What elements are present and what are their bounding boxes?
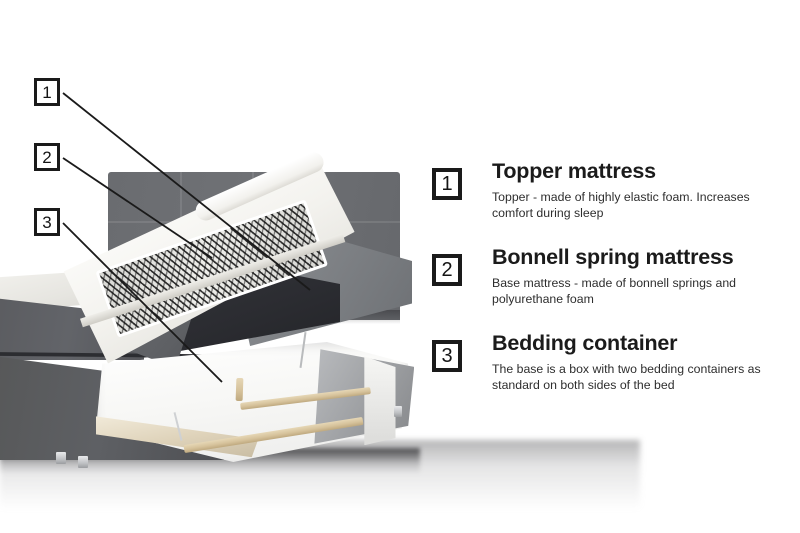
legend-item-bonnell-spring-mattress: 2 Bonnell spring mattress Base mattress … [432,246,792,332]
legend-list: 1 Topper mattress Topper - made of highl… [432,160,792,418]
bed-foot [78,456,88,468]
legend-title-3: Bedding container [492,332,792,356]
bed-illustration [0,160,420,480]
bed-foot [56,452,66,464]
legend-item-topper-mattress: 1 Topper mattress Topper - made of highl… [432,160,792,246]
legend-title-2: Bonnell spring mattress [492,246,792,270]
legend-item-bedding-container: 3 Bedding container The base is a box wi… [432,332,792,418]
legend-number-2: 2 [432,254,462,286]
bed-foot [394,406,402,417]
container-right-edge [364,356,395,445]
legend-number-3: 3 [432,340,462,372]
callout-number-3[interactable]: 3 [34,208,60,236]
infographic-canvas: 1 2 3 1 Topper mattress Topper - made of… [0,0,800,533]
legend-description-2: Base mattress - made of bonnell springs … [492,275,792,307]
legend-number-1: 1 [432,168,462,200]
wooden-slat-vertical [236,378,244,401]
legend-title-1: Topper mattress [492,160,792,184]
callout-number-1[interactable]: 1 [34,78,60,106]
callout-number-2[interactable]: 2 [34,143,60,171]
legend-description-1: Topper - made of highly elastic foam. In… [492,189,792,221]
bedding-container [96,342,408,462]
legend-description-3: The base is a box with two bedding conta… [492,361,792,393]
